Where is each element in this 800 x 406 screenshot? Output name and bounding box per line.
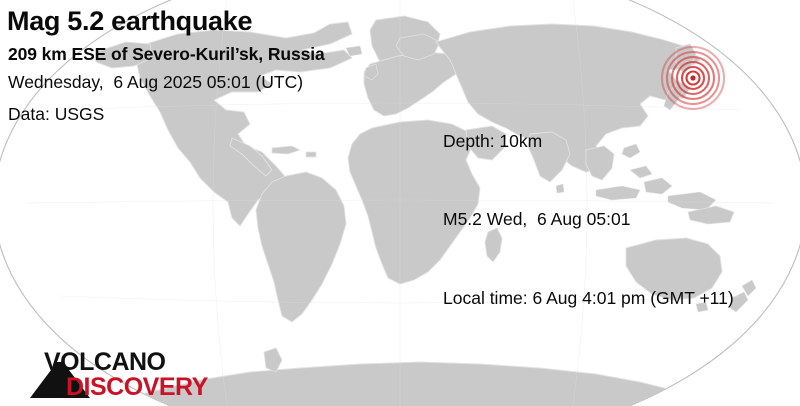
page-title: Mag 5.2 earthquake: [7, 6, 252, 38]
earthquake-datetime-utc: Wednesday, 6 Aug 2025 05:01 (UTC): [8, 72, 303, 93]
info-local-time: Local time: 6 Aug 4:01 pm (GMT +11): [443, 285, 734, 311]
volcanodiscovery-logo[interactable]: VOLCANO DISCOVERY: [30, 340, 220, 402]
data-source-label: Data: USGS: [8, 104, 104, 125]
logo-word-secondary: DISCOVERY: [66, 373, 209, 401]
earthquake-location: 209 km ESE of Severo-Kuril’sk, Russia: [8, 44, 325, 65]
info-magnitude-time: M5.2 Wed, 6 Aug 05:01: [443, 206, 734, 232]
earthquake-map-card: Mag 5.2 earthquake 209 km ESE of Severo-…: [0, 0, 800, 406]
info-depth: Depth: 10km: [443, 128, 734, 154]
logo-word-primary: VOLCANO: [44, 348, 166, 376]
earthquake-info-panel: Depth: 10km M5.2 Wed, 6 Aug 05:01 Local …: [443, 75, 734, 364]
